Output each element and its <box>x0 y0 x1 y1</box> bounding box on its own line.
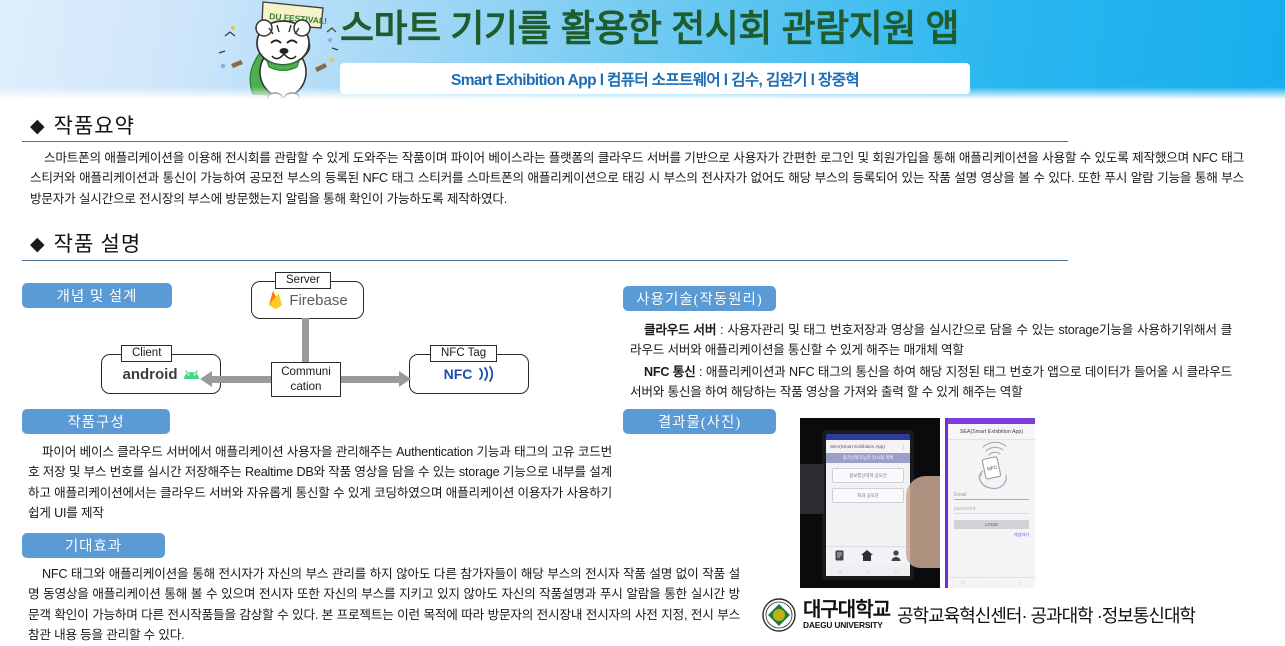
diagram-node-server-body: Firebase <box>289 292 347 309</box>
architecture-diagram: Firebase Server android Client Communi c… <box>96 266 616 406</box>
connector-comm-client <box>210 376 274 383</box>
expected-effect-paragraph: NFC 태그와 애플리케이션을 통해 전시자가 자신의 부스 관리를 하지 않아… <box>28 564 740 646</box>
exhibition-list: 정보통신대학 공모전 학과 공모전 <box>826 463 910 508</box>
badge-used-tech: 사용기술(작동원리) <box>623 286 776 311</box>
mascot-tiger-icon: DU FESTIVAL! <box>207 0 357 101</box>
home-icon <box>861 550 873 561</box>
tech-term-cloud-server: 클라우드 서버 <box>644 323 716 337</box>
section-rule-summary <box>22 141 1068 142</box>
comm-line-1: Communi <box>281 365 331 379</box>
app-bar-title: SEA(Smart Exhibition App) <box>830 444 885 449</box>
back-icon[interactable]: ◁ <box>961 580 964 586</box>
password-field[interactable]: password <box>954 506 1029 514</box>
tech-item-nfc-comm: NFC 통신 : 애플리케이션과 NFC 태그의 통신을 하여 해당 지정된 태… <box>630 362 1232 403</box>
list-item[interactable]: 정보통신대학 공모전 <box>832 468 904 483</box>
badge-composition: 작품구성 <box>22 409 170 434</box>
app-bar-title: SEA(Smart Exhibition App) <box>948 424 1035 440</box>
arrow-right-icon <box>399 371 411 387</box>
nfc-label-group: NFC <box>444 366 495 382</box>
comm-line-2: cation <box>291 380 322 394</box>
login-form: Email password LOGIN 가입하기 <box>948 492 1035 538</box>
tech-sep-0: : <box>716 323 727 337</box>
summary-text: 스마트폰의 애플리케이션을 이용해 전시회를 관람할 수 있게 도와주는 작품이… <box>30 151 1244 206</box>
section-title-description: 작품 설명 <box>54 228 142 258</box>
app-bar: SEA(Smart Exhibition App) ⋮ <box>826 440 910 453</box>
system-nav-bar: ◁○□ <box>826 566 910 576</box>
diamond-icon: ◆ <box>30 117 45 136</box>
diagram-node-communication: Communi cation <box>271 362 341 397</box>
person-icon <box>891 550 901 561</box>
tech-term-nfc-comm: NFC 통신 <box>644 365 696 379</box>
nfc-phone-illustration: NFC <box>948 440 1035 492</box>
diamond-icon: ◆ <box>30 235 45 254</box>
badge-result-photos: 결과물(사진) <box>623 409 776 434</box>
more-icon[interactable]: ⋮ <box>901 444 906 450</box>
android-label-group: android <box>123 366 200 383</box>
recents-icon[interactable]: □ <box>1019 581 1022 586</box>
home-nav-icon[interactable]: ○ <box>867 569 869 574</box>
diagram-label-client: Client <box>121 345 172 362</box>
expected-effect-text: NFC 태그와 애플리케이션을 통해 전시자가 자신의 부스 관리를 하지 않아… <box>28 567 740 642</box>
footer-departments: 공학교육혁신센터· 공과대학 ·정보통신대학 <box>897 602 1195 628</box>
composition-paragraph: 파이어 베이스 클라우드 서버에서 애플리케이션 사용자을 관리해주는 Auth… <box>28 442 612 524</box>
diagram-label-nfc-tag: NFC Tag <box>430 345 497 362</box>
footer-university-en: DAEGU UNIVERSITY <box>803 621 890 629</box>
phone-screen: SEA(Smart Exhibition App) ⋮ 참가신청가능한 전시회 … <box>826 434 910 576</box>
diagram-node-client-body: android <box>123 366 178 383</box>
bottom-nav <box>826 546 910 564</box>
badge-expected-effect: 기대효과 <box>22 533 165 558</box>
home-nav-icon[interactable]: ○ <box>991 581 994 586</box>
poster-header: DU FESTIVAL! <box>0 0 1285 101</box>
sub-bar: 참가신청가능한 전시회 목록 <box>826 453 910 463</box>
footer: 대구대학교 DAEGU UNIVERSITY 공학교육혁신센터· 공과대학 ·정… <box>762 598 1195 632</box>
daegu-university-logo-icon <box>762 598 796 632</box>
android-robot-icon <box>183 369 200 380</box>
footer-university-name: 대구대학교 DAEGU UNIVERSITY <box>803 600 890 629</box>
firebase-icon <box>267 290 284 310</box>
photo-shadow <box>800 464 824 514</box>
tech-sep-1: : <box>696 365 706 379</box>
signup-link[interactable]: 가입하기 <box>954 532 1029 538</box>
hand-photo-element <box>906 476 940 568</box>
composition-text: 파이어 베이스 클라우드 서버에서 애플리케이션 사용자을 관리해주는 Auth… <box>28 445 612 520</box>
section-heading-description: ◆ 작품 설명 <box>30 228 141 258</box>
email-field[interactable]: Email <box>954 492 1029 500</box>
login-button[interactable]: LOGIN <box>954 520 1029 529</box>
result-photo-list-screen: SEA(Smart Exhibition App) ⋮ 참가신청가능한 전시회 … <box>800 418 940 588</box>
result-photo-login-screen: SEA(Smart Exhibition App) NFC Email pass… <box>945 418 1035 588</box>
firebase-label-group: Firebase <box>267 290 347 310</box>
page-title: 스마트 기기를 활용한 전시회 관람지원 앱 <box>340 6 1100 52</box>
recents-icon[interactable]: □ <box>895 569 897 574</box>
tech-item-cloud-server: 클라우드 서버 : 사용자관리 및 태그 번호저장과 영상을 실시간으로 담을 … <box>630 320 1232 361</box>
connector-comm-nfc <box>336 376 400 383</box>
arrow-left-icon <box>200 371 212 387</box>
summary-paragraph: 스마트폰의 애플리케이션을 이용해 전시회를 관람할 수 있게 도와주는 작품이… <box>30 148 1244 209</box>
diagram-label-server: Server <box>275 272 331 289</box>
nfc-waves-icon <box>477 366 494 382</box>
diagram-node-nfc-body: NFC <box>444 366 473 382</box>
footer-university-ko: 대구대학교 <box>803 599 890 621</box>
back-icon[interactable]: ◁ <box>839 569 842 574</box>
tech-text-nfc-comm: 애플리케이션과 NFC 태그의 통신을 하여 해당 지정된 태그 번호가 앱으로… <box>630 365 1232 399</box>
list-item[interactable]: 학과 공모전 <box>832 488 904 503</box>
header-fade <box>0 87 1285 101</box>
section-rule-description <box>22 260 1068 261</box>
section-heading-summary: ◆ 작품요약 <box>30 110 135 140</box>
system-nav-bar: ◁○□ <box>948 577 1035 588</box>
document-icon <box>835 550 844 561</box>
section-title-summary: 작품요약 <box>54 110 135 140</box>
